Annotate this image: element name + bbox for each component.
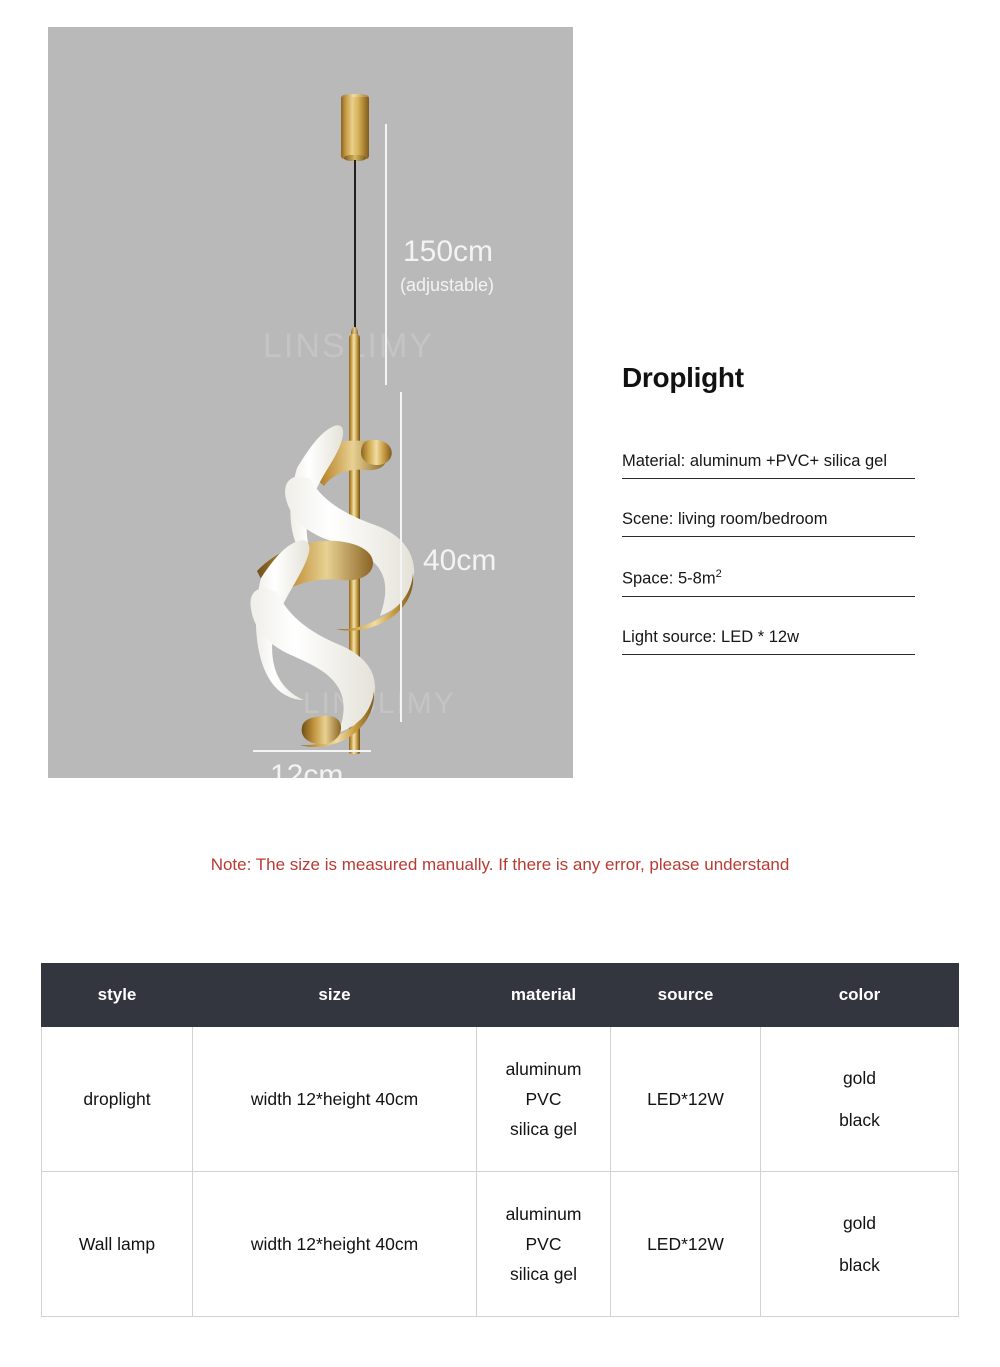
product-title: Droplight: [622, 362, 922, 394]
cell-style: droplight: [42, 1027, 193, 1172]
cell-style: Wall lamp: [42, 1172, 193, 1317]
spec-row-light-source: Light source: LED * 12w: [622, 628, 915, 655]
table-header-style: style: [42, 964, 193, 1027]
color-option: gold: [762, 1063, 957, 1093]
product-photo-panel: LINSLIMY LINSLIMY: [48, 27, 573, 778]
material-line: silica gel: [478, 1259, 609, 1289]
dimension-label-width: 12cm: [270, 759, 343, 778]
product-variant-table: style size material source color droplig…: [41, 963, 959, 1317]
spec-space-unit: m: [702, 570, 716, 588]
table-row: Wall lamp width 12*height 40cm aluminum …: [42, 1172, 959, 1317]
table-header-size: size: [193, 964, 477, 1027]
material-line: aluminum: [478, 1199, 609, 1229]
spec-space-text: Space: 5-8: [622, 570, 702, 588]
cell-material: aluminum PVC silica gel: [477, 1027, 611, 1172]
dimension-line-body: [400, 392, 402, 722]
color-option: black: [762, 1250, 957, 1280]
spec-row-material: Material: aluminum +PVC+ silica gel: [622, 452, 915, 479]
spec-row-scene: Scene: living room/bedroom: [622, 510, 915, 537]
material-line: aluminum: [478, 1054, 609, 1084]
measurement-note: Note: The size is measured manually. If …: [0, 855, 1000, 875]
dimension-line-width: [253, 750, 371, 752]
dimension-line-height: [385, 124, 387, 385]
cell-size: width 12*height 40cm: [193, 1172, 477, 1317]
dimension-label-adjustable: (adjustable): [400, 275, 494, 296]
table-header-material: material: [477, 964, 611, 1027]
cell-source: LED*12W: [611, 1027, 761, 1172]
material-line: PVC: [478, 1084, 609, 1114]
specification-block: Droplight Material: aluminum +PVC+ silic…: [622, 362, 922, 655]
material-line: PVC: [478, 1229, 609, 1259]
table-row: droplight width 12*height 40cm aluminum …: [42, 1027, 959, 1172]
table-header-color: color: [761, 964, 959, 1027]
color-option: black: [762, 1105, 957, 1135]
material-line: silica gel: [478, 1114, 609, 1144]
spec-row-space: Space: 5-8m2: [622, 568, 915, 597]
table-header-row: style size material source color: [42, 964, 959, 1027]
dimension-label-body: 40cm: [423, 544, 496, 578]
spec-space-superscript: 2: [716, 568, 722, 580]
dimension-label-height: 150cm: [403, 235, 493, 269]
table-header-source: source: [611, 964, 761, 1027]
cell-source: LED*12W: [611, 1172, 761, 1317]
cell-color: gold black: [761, 1027, 959, 1172]
cell-size: width 12*height 40cm: [193, 1027, 477, 1172]
color-option: gold: [762, 1208, 957, 1238]
cell-material: aluminum PVC silica gel: [477, 1172, 611, 1317]
led-spiral-ribbon: [48, 27, 573, 778]
cell-color: gold black: [761, 1172, 959, 1317]
